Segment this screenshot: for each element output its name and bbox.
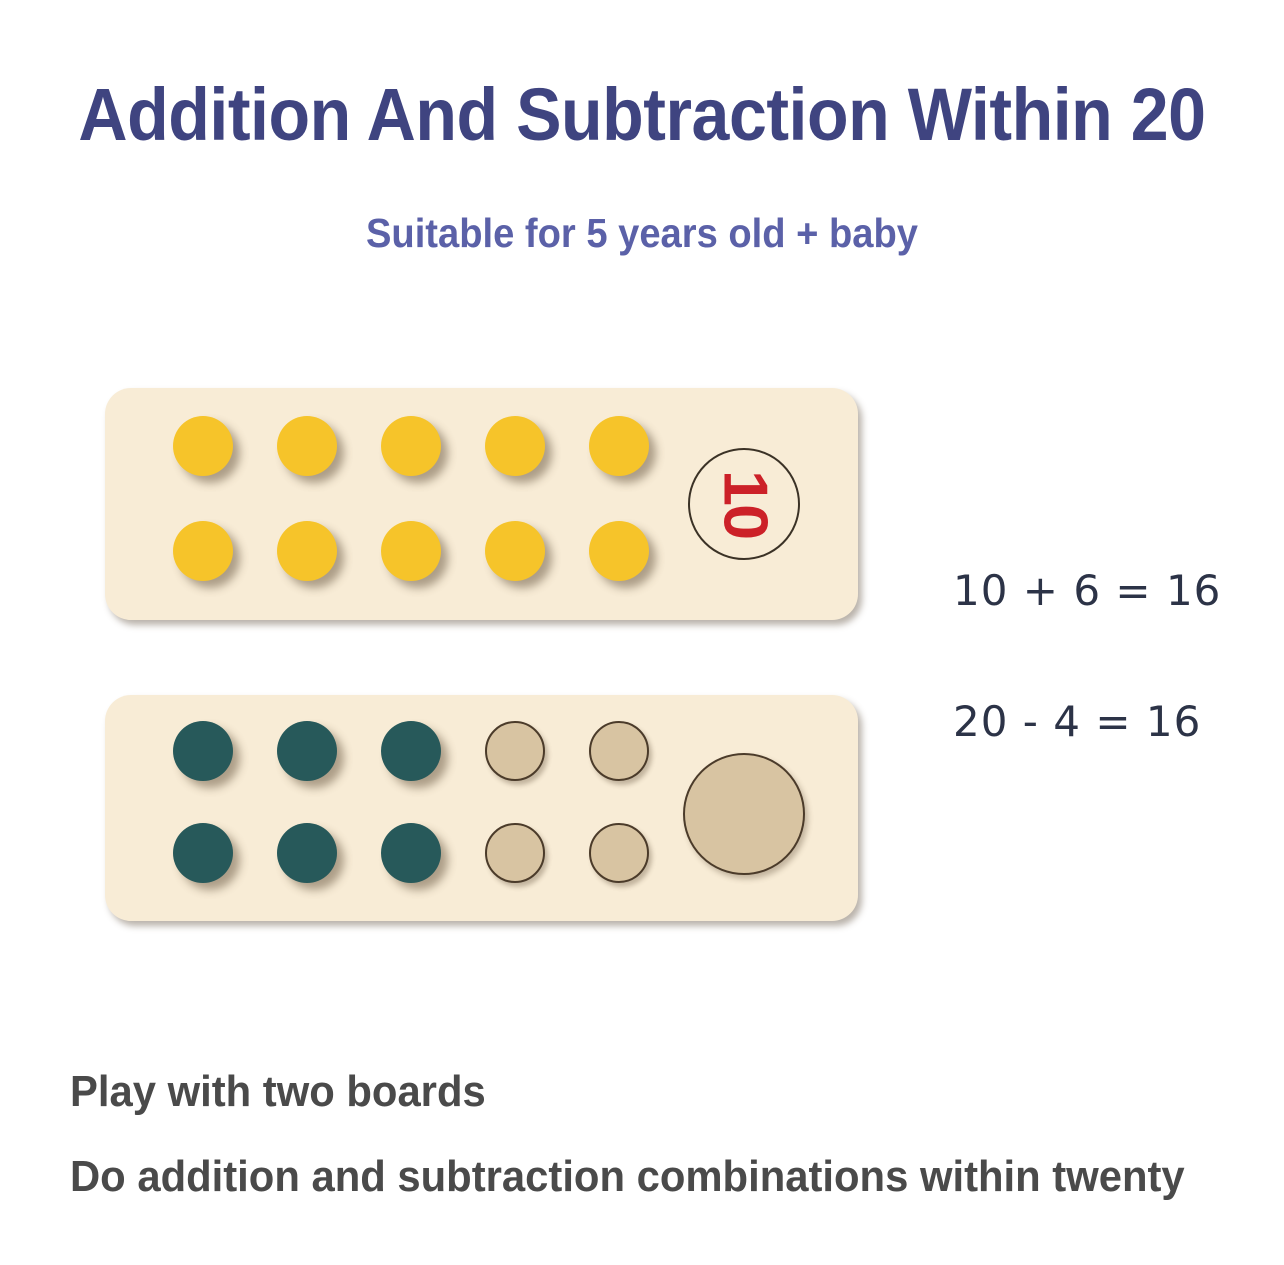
note-combinations-within-twenty: Do addition and subtraction combinations… xyxy=(70,1152,1185,1202)
ten-frame-board-teal[interactable] xyxy=(105,695,858,921)
peg-spacer xyxy=(233,751,277,752)
peg-teal[interactable] xyxy=(277,823,337,883)
peg-yellow[interactable] xyxy=(277,416,337,476)
ten-value-marker[interactable]: 10 xyxy=(688,448,800,560)
peg-spacer xyxy=(233,446,277,447)
peg-teal[interactable] xyxy=(173,721,233,781)
peg-teal[interactable] xyxy=(381,721,441,781)
peg-spacer xyxy=(441,551,485,552)
peg-yellow[interactable] xyxy=(589,521,649,581)
peg-yellow[interactable] xyxy=(485,416,545,476)
peg-spacer xyxy=(337,446,381,447)
peg-row-bottom xyxy=(173,521,649,581)
peg-hole-large-empty[interactable] xyxy=(683,753,805,875)
peg-yellow[interactable] xyxy=(381,521,441,581)
peg-spacer xyxy=(233,551,277,552)
peg-spacer xyxy=(441,853,485,854)
peg-yellow[interactable] xyxy=(485,521,545,581)
peg-spacer xyxy=(545,853,589,854)
peg-row-top xyxy=(173,721,649,781)
peg-yellow[interactable] xyxy=(277,521,337,581)
note-play-with-two-boards: Play with two boards xyxy=(70,1067,486,1117)
peg-yellow[interactable] xyxy=(173,521,233,581)
equation-addition: 10 + 6 = 16 xyxy=(953,566,1221,615)
peg-spacer xyxy=(441,751,485,752)
peg-teal[interactable] xyxy=(381,823,441,883)
ten-value-marker-label: 10 xyxy=(713,470,775,538)
peg-spacer xyxy=(545,446,589,447)
peg-spacer xyxy=(545,551,589,552)
peg-row-top xyxy=(173,416,649,476)
peg-spacer xyxy=(441,446,485,447)
peg-hole-empty[interactable] xyxy=(589,823,649,883)
peg-spacer xyxy=(233,853,277,854)
peg-spacer xyxy=(545,751,589,752)
peg-yellow[interactable] xyxy=(381,416,441,476)
peg-teal[interactable] xyxy=(173,823,233,883)
peg-yellow[interactable] xyxy=(173,416,233,476)
page-subtitle: Suitable for 5 years old + baby xyxy=(45,213,1239,254)
peg-teal[interactable] xyxy=(277,721,337,781)
peg-spacer xyxy=(337,551,381,552)
peg-hole-empty[interactable] xyxy=(485,823,545,883)
ten-frame-board-yellow[interactable]: 10 xyxy=(105,388,858,620)
peg-row-bottom xyxy=(173,823,649,883)
page-title: Addition And Subtraction Within 20 xyxy=(51,78,1232,152)
equation-subtraction: 20 - 4 = 16 xyxy=(953,697,1201,746)
peg-spacer xyxy=(337,853,381,854)
peg-yellow[interactable] xyxy=(589,416,649,476)
peg-spacer xyxy=(337,751,381,752)
peg-hole-empty[interactable] xyxy=(485,721,545,781)
peg-hole-empty[interactable] xyxy=(589,721,649,781)
